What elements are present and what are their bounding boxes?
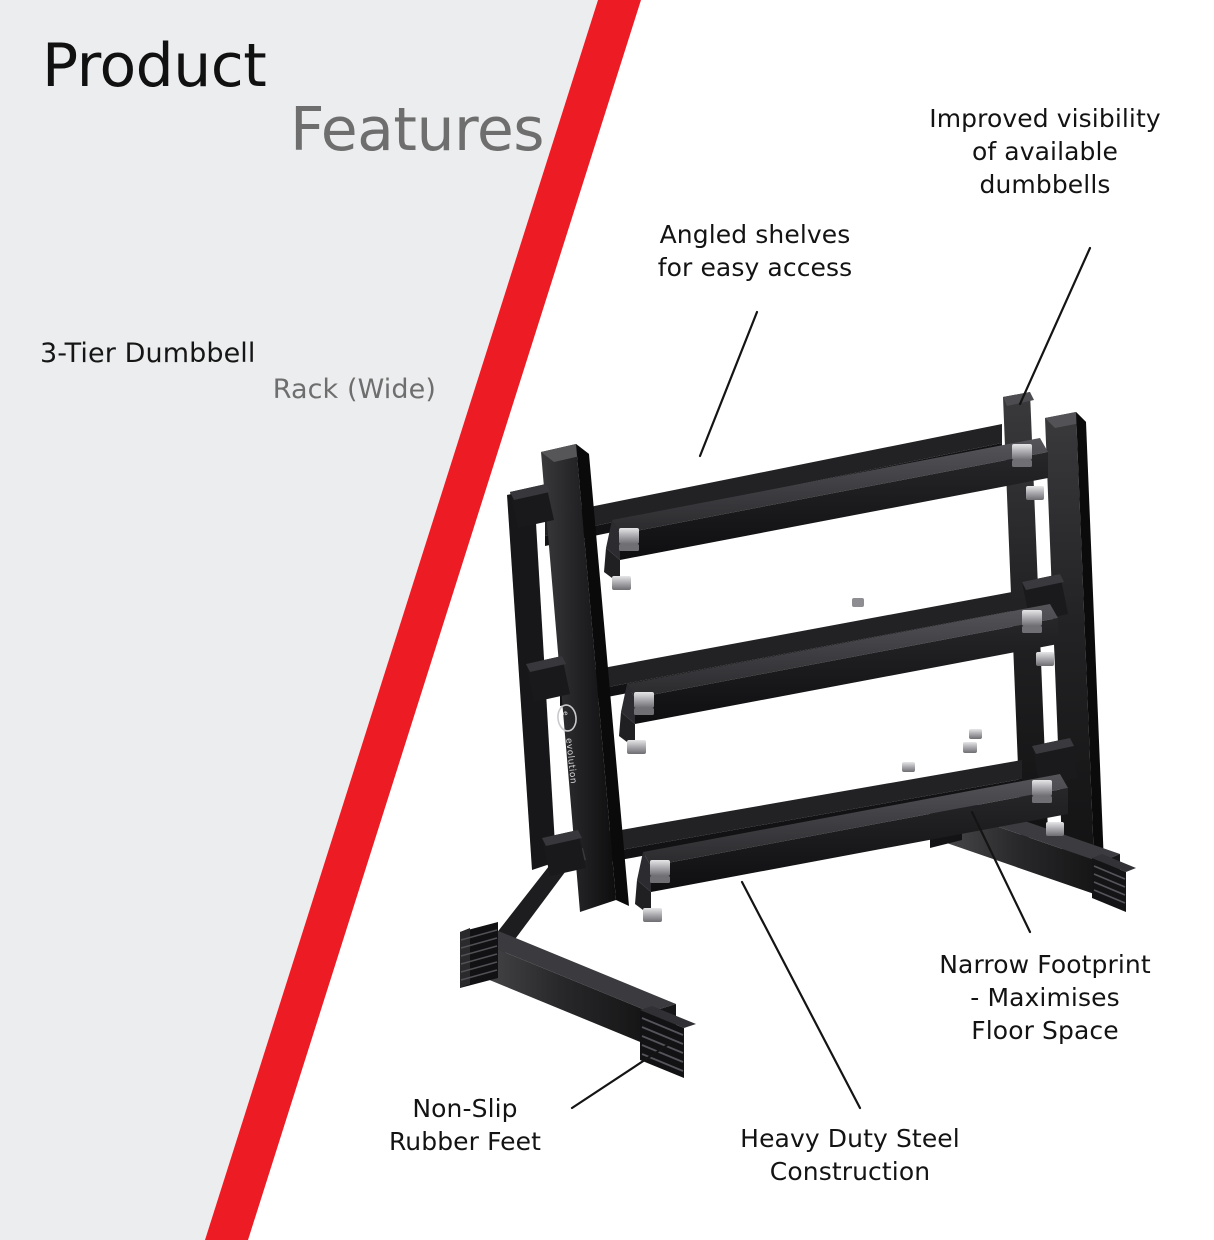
product-features-infographic: Product Features 3-Tier Dumbbell Rack (W… (0, 0, 1214, 1240)
leader-improved-visibility (1020, 248, 1090, 404)
leader-narrow-footprint (972, 812, 1030, 932)
leader-angled-shelves (700, 312, 757, 456)
callout-heavy-duty: Heavy Duty Steel Construction (690, 1122, 1010, 1188)
leader-heavy-duty (742, 882, 860, 1108)
callout-non-slip: Non-Slip Rubber Feet (330, 1092, 600, 1158)
callout-angled-shelves: Angled shelves for easy access (600, 218, 910, 284)
callout-narrow-footprint: Narrow Footprint - Maximises Floor Space (890, 948, 1200, 1047)
callout-improved-visibility: Improved visibility of available dumbbel… (880, 102, 1210, 201)
